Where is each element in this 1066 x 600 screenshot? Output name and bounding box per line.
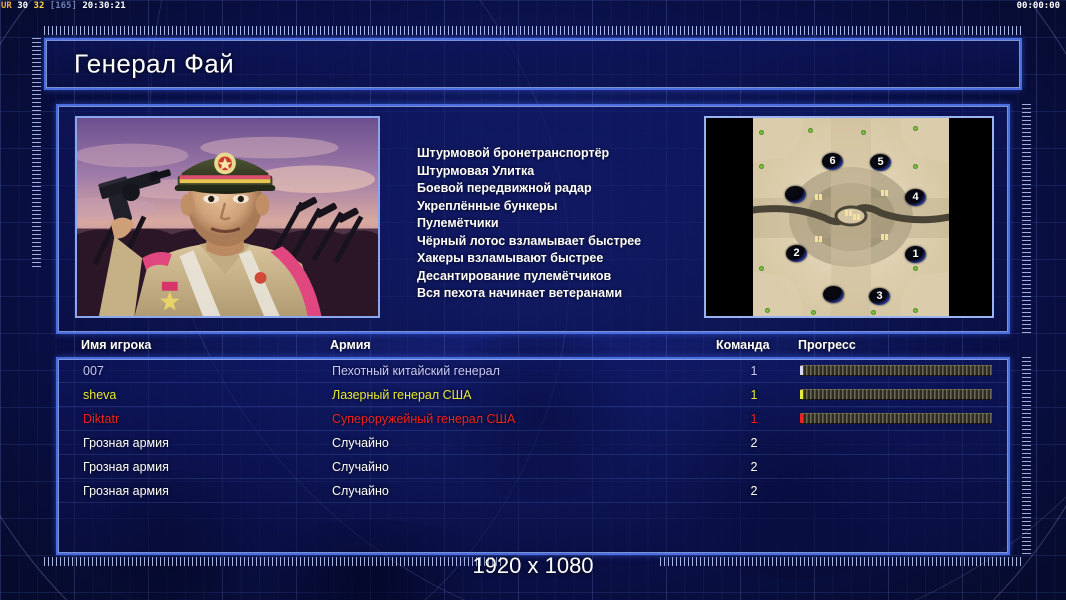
- progress-bar-tip: [800, 414, 803, 423]
- map-tree-marker: [759, 164, 764, 169]
- resolution-label: 1920 x 1080: [0, 553, 1066, 579]
- osd-value-3: [165]: [50, 1, 77, 11]
- general-info-panel: Штурмовой бронетранспортёр Штурмовая Ули…: [56, 104, 1010, 334]
- map-resource-marker: [881, 190, 884, 196]
- progress-bar: [800, 365, 992, 376]
- map-tree-marker: [765, 308, 770, 313]
- player-team: 1: [744, 407, 764, 431]
- header-team: Команда: [716, 338, 770, 352]
- progress-bar-tip: [800, 366, 803, 375]
- header-player-name: Имя игрока: [81, 338, 151, 352]
- ruler-tick-right: [1022, 104, 1031, 334]
- player-team: 2: [744, 455, 764, 479]
- table-row[interactable]: Грозная армияСлучайно2: [58, 431, 1008, 455]
- table-row[interactable]: Грозная армияСлучайно2: [58, 479, 1008, 503]
- general-portrait-frame: [75, 116, 380, 318]
- header-progress: Прогресс: [798, 338, 856, 352]
- feature-item: Штурмовая Улитка: [417, 163, 707, 181]
- game-lobby-screen: UR 30 32 [165] 20:30:21 00:00:00 Генерал…: [0, 0, 1066, 600]
- player-name: 007: [83, 359, 104, 383]
- header-army: Армия: [330, 338, 371, 352]
- map-tree-marker: [913, 164, 918, 169]
- map-start-position: 1: [905, 246, 926, 263]
- map-tree-marker: [913, 126, 918, 131]
- table-row[interactable]: DiktatrСупероружейный генерал США1: [58, 407, 1008, 431]
- general-portrait-image: [77, 118, 378, 317]
- feature-item: Хакеры взламывают быстрее: [417, 250, 707, 268]
- player-team: 2: [744, 431, 764, 455]
- player-list-panel: 007Пехотный китайский генерал1shevaЛазер…: [56, 357, 1010, 555]
- player-army: Лазерный генерал США: [332, 383, 471, 407]
- feature-item: Десантирование пулемётчиков: [417, 268, 707, 286]
- map-preview[interactable]: 654213: [704, 116, 994, 318]
- player-name: Diktatr: [83, 407, 119, 431]
- progress-bar: [800, 413, 992, 424]
- map-start-position: 3: [869, 288, 890, 305]
- osd-value-1: 30: [17, 1, 28, 11]
- osd-overlay: UR 30 32 [165] 20:30:21 00:00:00: [0, 0, 1066, 13]
- player-rows: 007Пехотный китайский генерал1shevaЛазер…: [58, 359, 1008, 503]
- player-team: 1: [744, 383, 764, 407]
- map-resource-marker: [881, 234, 884, 240]
- map-resource-marker: [815, 236, 818, 242]
- page-title: Генерал Фай: [74, 49, 234, 80]
- player-army: Супероружейный генерал США: [332, 407, 515, 431]
- osd-clock: 20:30:21: [82, 1, 125, 11]
- map-tree-marker: [861, 130, 866, 135]
- map-tree-marker: [759, 130, 764, 135]
- map-resource-marker: [845, 210, 848, 216]
- progress-bar: [800, 389, 992, 400]
- player-progress: [800, 413, 992, 425]
- map-tree-marker: [811, 310, 816, 315]
- general-feature-list: Штурмовой бронетранспортёр Штурмовая Ули…: [417, 145, 707, 303]
- table-row[interactable]: 007Пехотный китайский генерал1: [58, 359, 1008, 383]
- osd-label: UR: [1, 1, 12, 11]
- player-name: Грозная армия: [83, 431, 169, 455]
- feature-item: Пулемётчики: [417, 215, 707, 233]
- progress-bar-tip: [800, 390, 803, 399]
- title-panel: Генерал Фай: [44, 38, 1022, 90]
- map-start-position: [785, 186, 806, 203]
- map-tree-marker: [808, 128, 813, 133]
- feature-item: Вся пехота начинает ветеранами: [417, 285, 707, 303]
- feature-item: Штурмовой бронетранспортёр: [417, 145, 707, 163]
- feature-item: Чёрный лотос взламывает быстрее: [417, 233, 707, 251]
- map-start-position: 6: [822, 153, 843, 170]
- map-tree-marker: [913, 266, 918, 271]
- player-name: Грозная армия: [83, 479, 169, 503]
- map-start-position: 5: [870, 154, 891, 171]
- player-army: Случайно: [332, 479, 389, 503]
- ruler-tick-right: [1022, 357, 1031, 555]
- map-tree-marker: [913, 308, 918, 313]
- osd-stats: UR 30 32 [165] 20:30:21: [1, 0, 126, 13]
- map-preview-image: [753, 118, 949, 316]
- map-resource-marker: [815, 194, 818, 200]
- player-army: Случайно: [332, 455, 389, 479]
- feature-item: Боевой передвижной радар: [417, 180, 707, 198]
- player-army: Случайно: [332, 431, 389, 455]
- table-row[interactable]: Грозная армияСлучайно2: [58, 455, 1008, 479]
- map-start-position: 4: [905, 189, 926, 206]
- player-name: Грозная армия: [83, 455, 169, 479]
- player-name: sheva: [83, 383, 116, 407]
- feature-item: Укреплённые бункеры: [417, 198, 707, 216]
- map-tree-marker: [759, 266, 764, 271]
- osd-timer: 00:00:00: [1017, 0, 1060, 13]
- ruler-tick-left: [32, 38, 41, 268]
- player-army: Пехотный китайский генерал: [332, 359, 500, 383]
- table-row[interactable]: shevaЛазерный генерал США1: [58, 383, 1008, 407]
- player-progress: [800, 389, 992, 401]
- map-start-position: 2: [786, 245, 807, 262]
- map-tree-marker: [871, 310, 876, 315]
- map-resource-marker: [853, 214, 856, 220]
- player-team: 1: [744, 359, 764, 383]
- player-progress: [800, 365, 992, 377]
- ruler-tick-top: [44, 26, 1022, 35]
- map-start-position: [823, 286, 844, 303]
- osd-value-2: 32: [34, 1, 45, 11]
- player-team: 2: [744, 479, 764, 503]
